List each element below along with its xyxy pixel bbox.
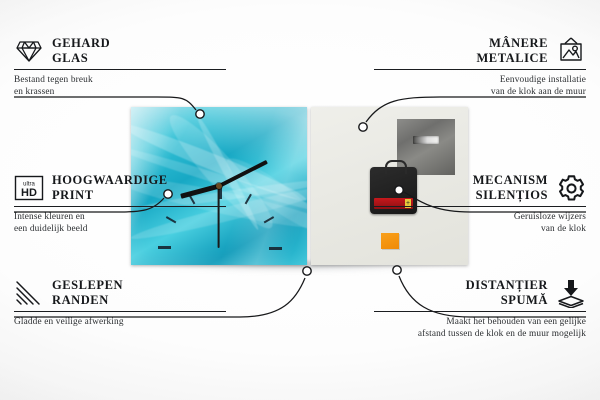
callout-geslepen-randen: GESLEPEN RANDEN Gladde en veilige afwerk…: [14, 278, 226, 328]
diamond-icon: [14, 36, 44, 66]
callout-divider: [14, 69, 226, 70]
callout-gehard-glas: GEHARD GLAS Bestand tegen breuk en krass…: [14, 36, 226, 99]
svg-text:HD: HD: [21, 187, 37, 199]
callout-title: MECANISM SILENȚIOS: [473, 173, 548, 203]
callout-subtitle: Bestand tegen breuk en krassen: [14, 74, 226, 99]
callout-divider: [374, 206, 586, 207]
beveled-edge-icon: [14, 278, 44, 308]
callout-subtitle: Gladde en veilige afwerking: [14, 316, 226, 328]
hanging-picture-icon: [556, 36, 586, 66]
callout-title: DISTANȚIER SPUMĂ: [466, 278, 548, 308]
marker-geslepen-randen: [303, 267, 311, 275]
callout-divider: [14, 206, 226, 207]
callout-title: GESLEPEN RANDEN: [52, 278, 123, 308]
gear-icon: [556, 173, 586, 203]
callout-subtitle: Geruisloze wijzers van de klok: [374, 211, 586, 236]
callout-subtitle: Maakt het behouden van een gelijke afsta…: [374, 316, 586, 341]
ultra-hd-icon: ultra HD: [14, 173, 44, 203]
callout-title: HOOGWAARDIGE PRINT: [52, 173, 168, 203]
callout-divider: [14, 311, 226, 312]
callout-distantier-spuma: DISTANȚIER SPUMĂ Maakt het behouden van …: [374, 278, 586, 341]
callout-mecanism-silentios: MECANISM SILENȚIOS Geruisloze wijzers va…: [374, 173, 586, 236]
callout-title: GEHARD GLAS: [52, 36, 110, 66]
callout-subtitle: Intense kleuren en een duidelijk beeld: [14, 211, 226, 236]
callout-manere-metalice: MÂNERE METALICE Eenvoudige installatie v…: [374, 36, 586, 99]
callout-title: MÂNERE METALICE: [476, 36, 548, 66]
callout-divider: [374, 69, 586, 70]
callout-divider: [374, 311, 586, 312]
callout-subtitle: Eenvoudige installatie van de klok aan d…: [374, 74, 586, 99]
callout-hoogwaardige-print: ultra HD HOOGWAARDIGE PRINT Intense kleu…: [14, 173, 226, 236]
marker-distantier-spuma: [393, 266, 401, 274]
infographic-canvas: +: [0, 0, 600, 400]
marker-manere-metalice: [359, 123, 367, 131]
foam-spacer-icon: [556, 278, 586, 308]
marker-gehard-glas: [196, 110, 204, 118]
